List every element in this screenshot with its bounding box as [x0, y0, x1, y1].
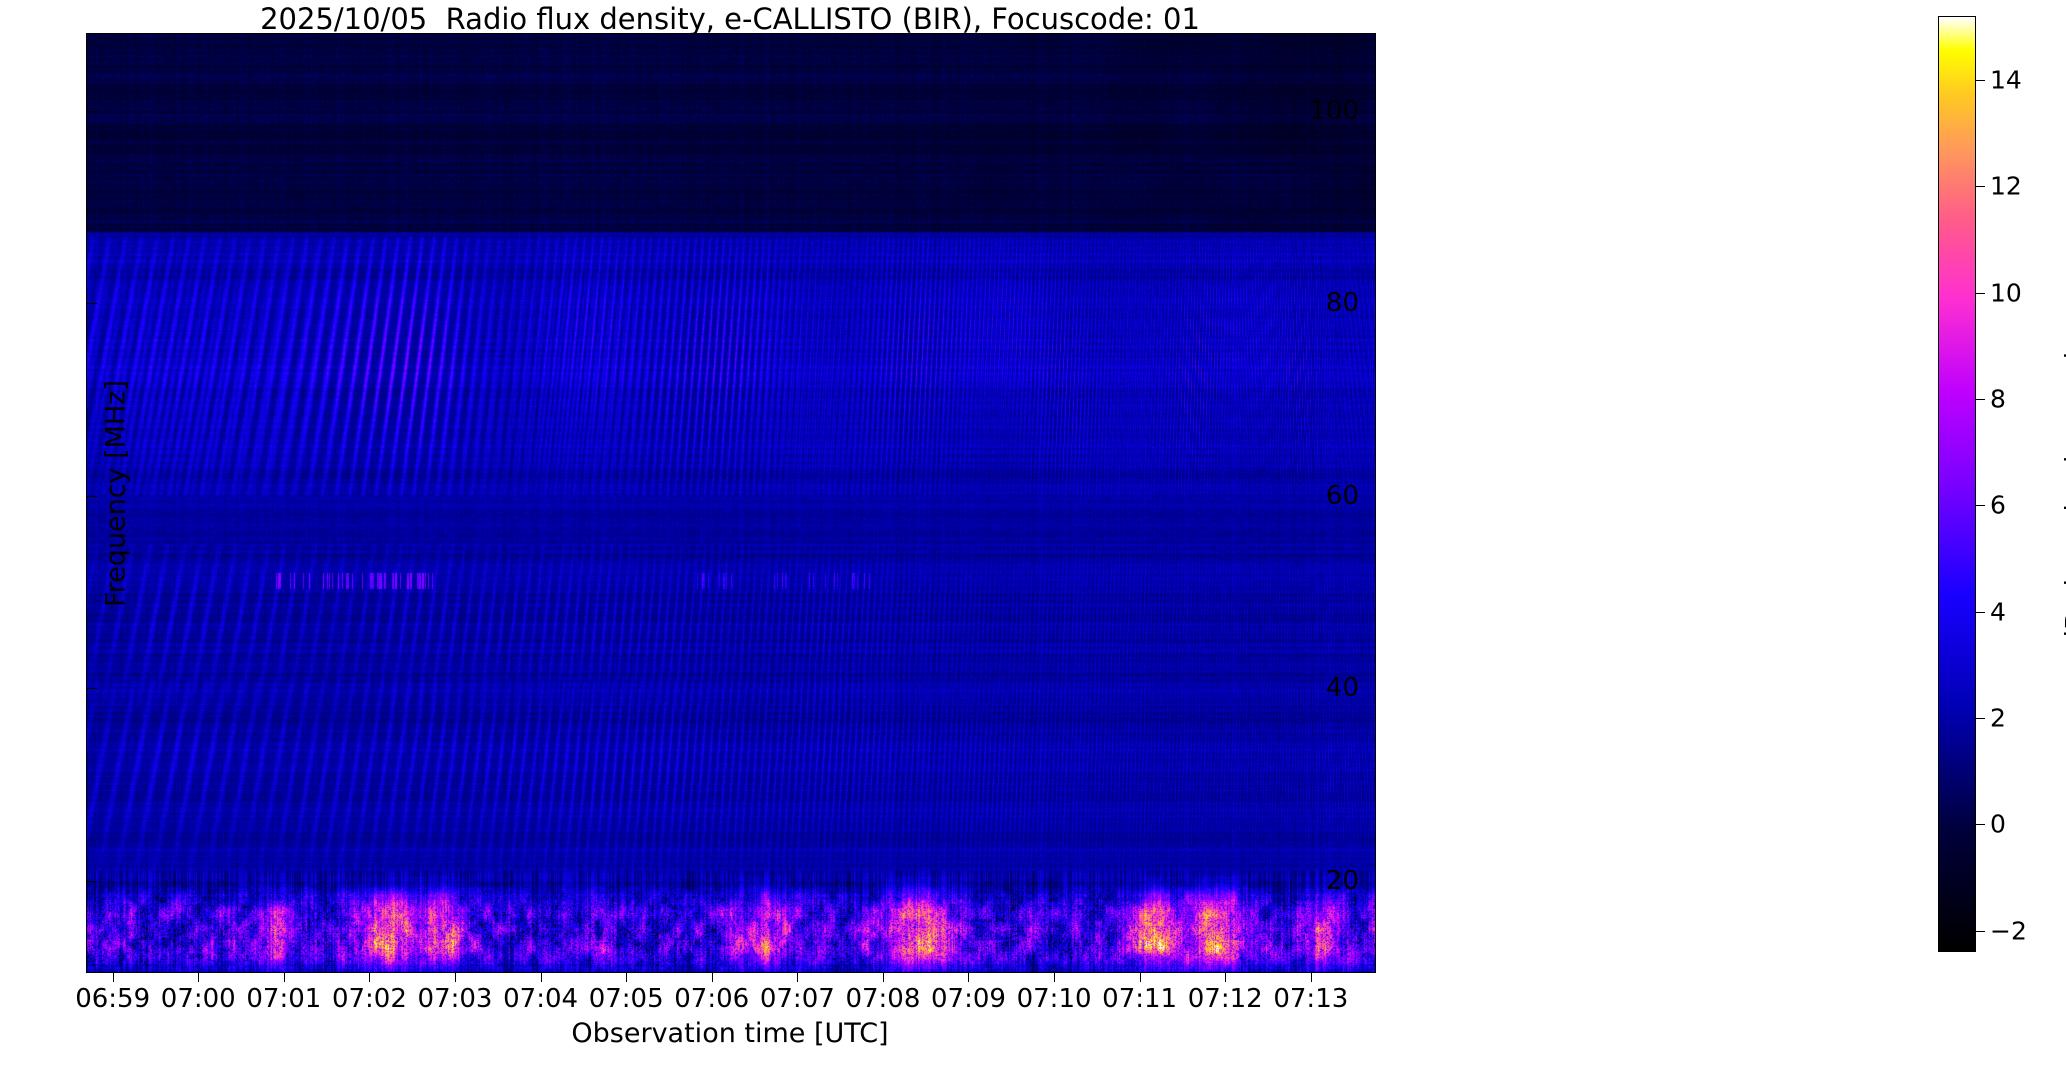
x-tick-mark — [1311, 972, 1312, 982]
y-tick-label: 100 — [1309, 96, 1359, 126]
colorbar-tick-mark — [1976, 505, 1985, 506]
y-tick-label: 40 — [1326, 673, 1359, 703]
y-tick-mark — [87, 303, 97, 304]
x-tick-mark — [1054, 972, 1055, 982]
colorbar-tick-label: 2 — [1990, 704, 2006, 733]
x-tick-mark — [968, 972, 969, 982]
colorbar-tick-label: 8 — [1990, 384, 2006, 413]
y-tick-label: 60 — [1326, 481, 1359, 511]
x-tick-mark — [284, 972, 285, 982]
x-tick-label: 07:09 — [931, 984, 1006, 1014]
y-tick-mark — [87, 881, 97, 882]
x-tick-mark — [1140, 972, 1141, 982]
x-tick-mark — [883, 972, 884, 982]
y-tick-mark — [87, 688, 97, 689]
x-tick-mark — [198, 972, 199, 982]
x-tick-label: 07:07 — [760, 984, 835, 1014]
x-tick-mark — [1225, 972, 1226, 982]
x-tick-label: 07:08 — [845, 984, 920, 1014]
colorbar-label: dB above background — [2061, 220, 2066, 780]
colorbar-tick-mark — [1976, 80, 1985, 81]
x-tick-label: 07:10 — [1017, 984, 1092, 1014]
x-tick-label: 07:01 — [246, 984, 321, 1014]
x-tick-mark — [712, 972, 713, 982]
x-tick-mark — [369, 972, 370, 982]
y-tick-mark — [87, 111, 97, 112]
x-tick-label: 07:04 — [503, 984, 578, 1014]
colorbar-tick-mark — [1976, 718, 1985, 719]
colorbar-gradient — [1938, 16, 1976, 952]
x-tick-label: 07:12 — [1188, 984, 1263, 1014]
x-tick-mark — [797, 972, 798, 982]
y-tick-label: 80 — [1326, 288, 1359, 318]
page-title: 2025/10/05 Radio flux density, e-CALLIST… — [86, 2, 1374, 36]
colorbar-tick-mark — [1976, 399, 1985, 400]
x-tick-label: 07:02 — [332, 984, 407, 1014]
x-tick-mark — [113, 972, 114, 982]
spectrogram-image — [87, 34, 1375, 972]
colorbar-tick-label: 14 — [1990, 65, 2022, 94]
colorbar-tick-label: 0 — [1990, 810, 2006, 839]
colorbar-tick-label: 12 — [1990, 172, 2022, 201]
x-tick-label: 07:03 — [418, 984, 493, 1014]
x-tick-mark — [455, 972, 456, 982]
colorbar-tick-mark — [1976, 824, 1985, 825]
colorbar-tick-mark — [1976, 612, 1985, 613]
x-tick-label: 07:13 — [1273, 984, 1348, 1014]
spectrogram-plot-area: Frequency [MHz] 20406080100 06:5907:0007… — [86, 33, 1376, 973]
x-tick-label: 07:00 — [161, 984, 236, 1014]
x-tick-mark — [626, 972, 627, 982]
colorbar-tick-mark — [1976, 931, 1985, 932]
x-tick-label: 06:59 — [75, 984, 150, 1014]
x-tick-label: 07:06 — [674, 984, 749, 1014]
colorbar: −202468101214 — [1938, 16, 1976, 952]
colorbar-tick-mark — [1976, 293, 1985, 294]
colorbar-tick-label: 6 — [1990, 491, 2006, 520]
x-tick-label: 07:11 — [1102, 984, 1177, 1014]
x-tick-mark — [541, 972, 542, 982]
y-axis-label: Frequency [MHz] — [101, 224, 132, 764]
colorbar-tick-label: −2 — [1990, 916, 2027, 945]
colorbar-tick-label: 10 — [1990, 278, 2022, 307]
x-axis-label: Observation time [UTC] — [86, 1018, 1374, 1049]
y-tick-mark — [87, 496, 97, 497]
colorbar-tick-mark — [1976, 186, 1985, 187]
y-tick-label: 20 — [1326, 866, 1359, 896]
x-tick-label: 07:05 — [589, 984, 664, 1014]
spectrogram-figure: 2025/10/05 Radio flux density, e-CALLIST… — [0, 0, 2066, 1067]
colorbar-tick-label: 4 — [1990, 597, 2006, 626]
